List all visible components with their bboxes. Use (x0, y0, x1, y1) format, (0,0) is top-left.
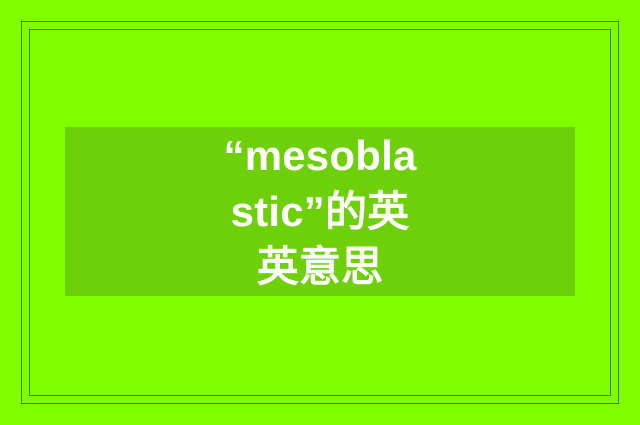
headline-band: “mesoblastic”的英英意思 (65, 127, 575, 296)
headline-text: “mesoblastic”的英英意思 (220, 128, 420, 294)
title-card: “mesoblastic”的英英意思 (0, 0, 640, 425)
